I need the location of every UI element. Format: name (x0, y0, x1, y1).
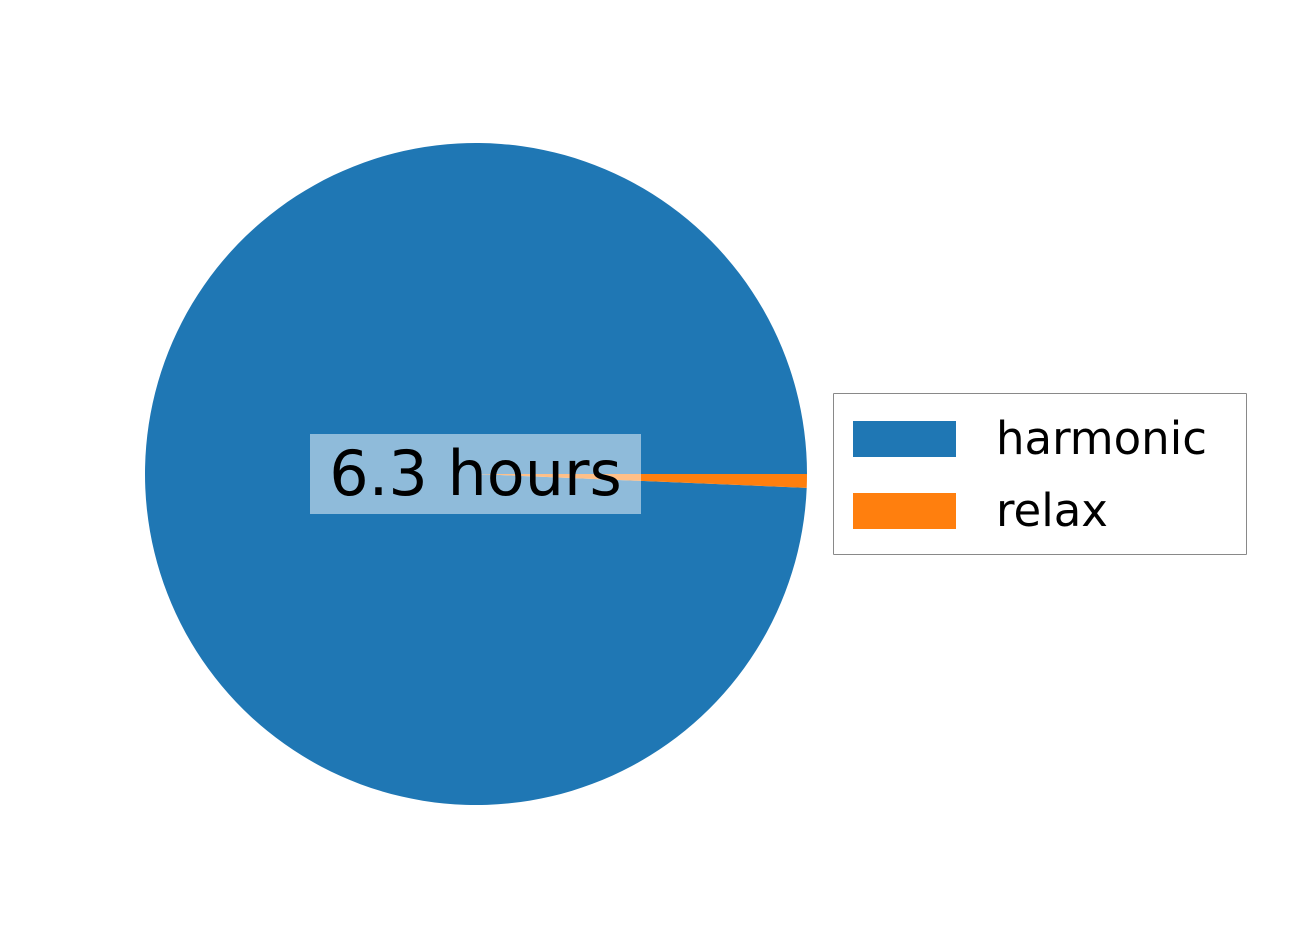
chart-legend: harmonic relax (833, 393, 1247, 555)
legend-swatch-harmonic (853, 421, 956, 457)
pie-chart-figure: 6.3 hours harmonic relax (0, 0, 1307, 951)
legend-label-harmonic: harmonic (996, 416, 1207, 461)
legend-entry-relax[interactable]: relax (853, 488, 1108, 533)
legend-label-relax: relax (996, 488, 1108, 533)
legend-entry-harmonic[interactable]: harmonic (853, 416, 1207, 461)
legend-swatch-relax (853, 493, 956, 529)
slice-value-label-harmonic: 6.3 hours (310, 434, 641, 514)
